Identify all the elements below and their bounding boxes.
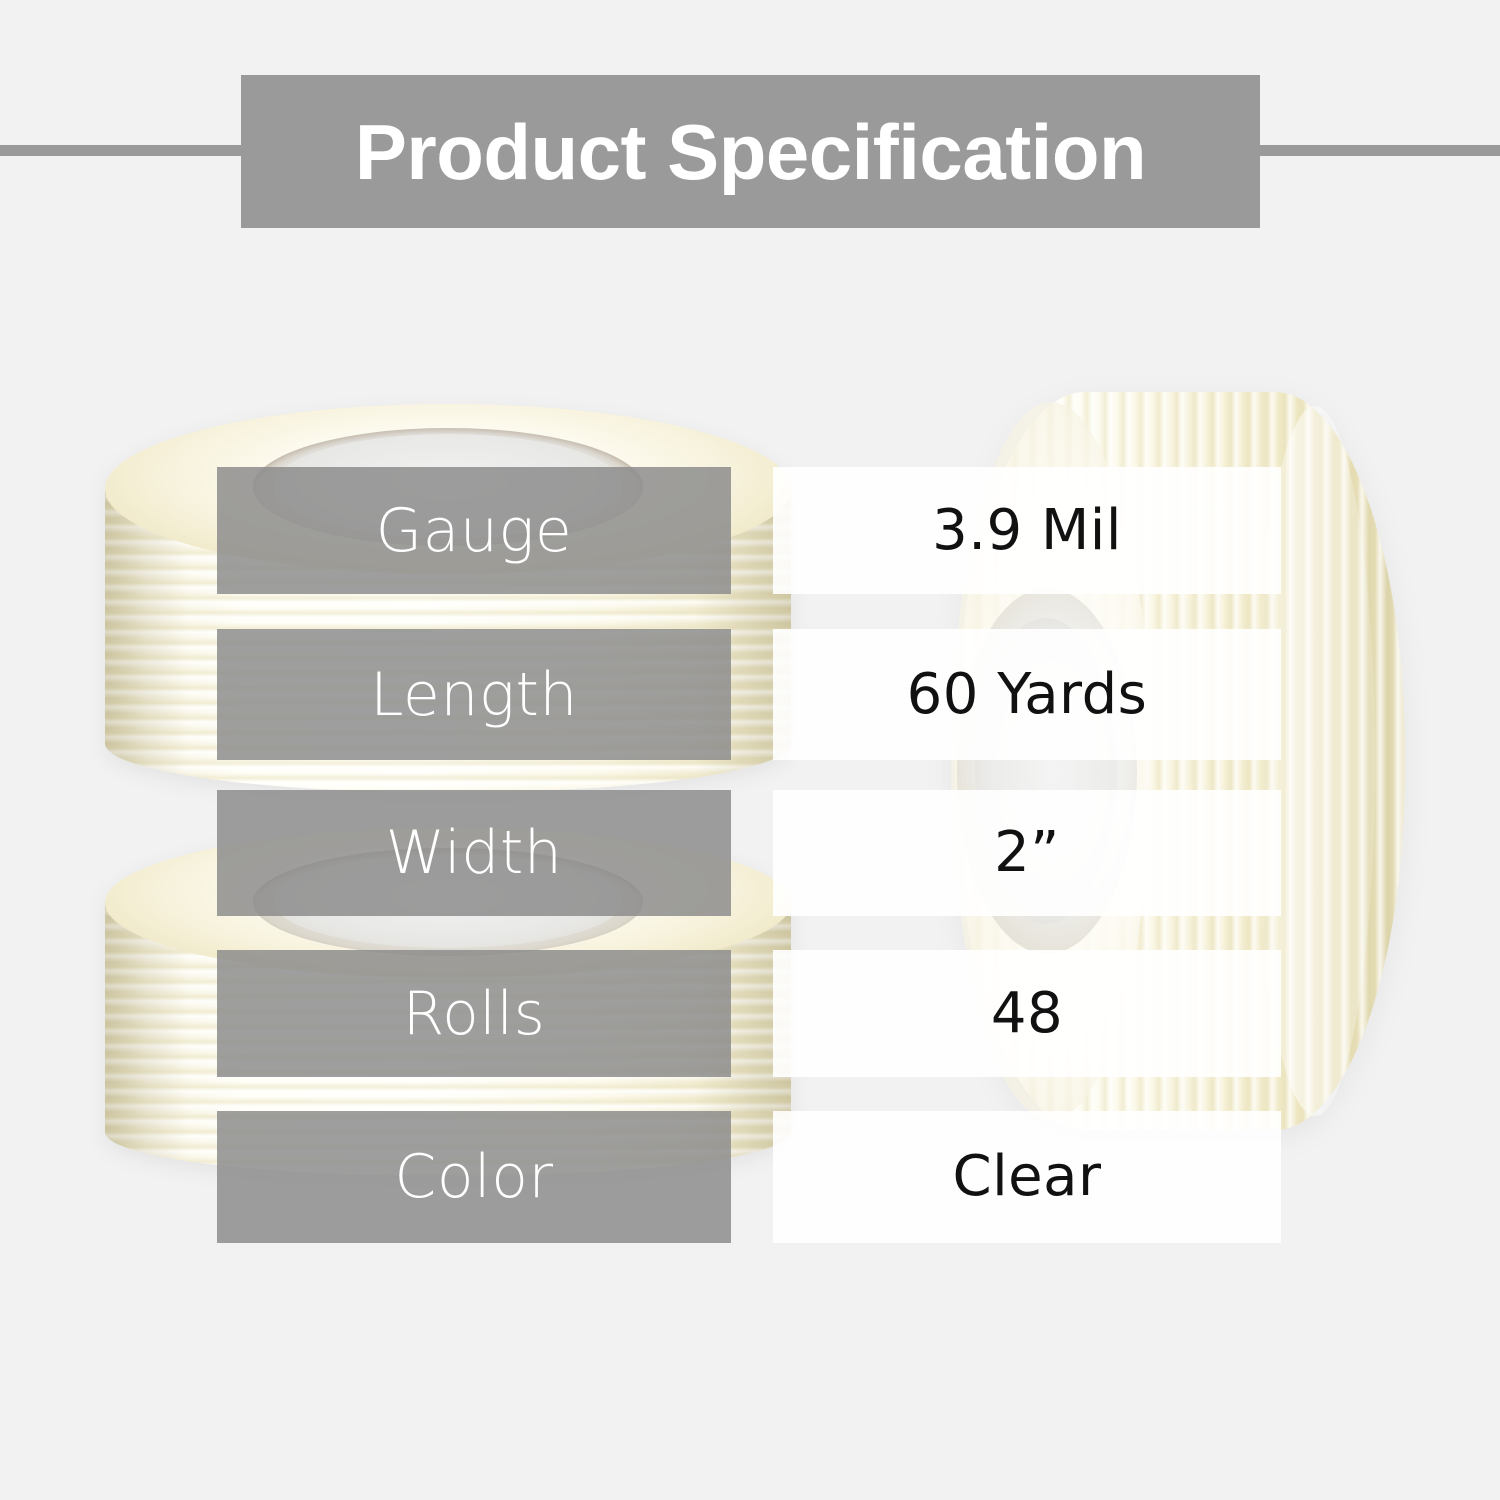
spec-table: Gauge 3.9 Mil Length 60 Yards Width 2” xyxy=(0,0,1500,1500)
spec-row: Color Clear xyxy=(0,1111,1500,1243)
spec-row: Rolls 48 xyxy=(0,950,1500,1077)
spec-value-cell: 2” xyxy=(773,790,1281,916)
spec-value-color: Clear xyxy=(953,1149,1102,1205)
product-specification-canvas: Product Specification Gauge 3.9 Mil Leng… xyxy=(0,0,1500,1500)
spec-label-length: Length xyxy=(370,665,578,725)
spec-value-cell: 60 Yards xyxy=(773,629,1281,760)
spec-label-cell: Rolls xyxy=(217,950,731,1077)
spec-value-cell: 3.9 Mil xyxy=(773,467,1281,594)
spec-label-cell: Length xyxy=(217,629,731,760)
spec-row: Length 60 Yards xyxy=(0,629,1500,760)
spec-label-width: Width xyxy=(386,823,563,883)
spec-label-cell: Width xyxy=(217,790,731,916)
spec-value-width: 2” xyxy=(994,825,1060,881)
spec-value-cell: Clear xyxy=(773,1111,1281,1243)
spec-row: Gauge 3.9 Mil xyxy=(0,467,1500,594)
spec-label-rolls: Rolls xyxy=(403,984,546,1044)
spec-label-gauge: Gauge xyxy=(376,501,573,561)
spec-label-cell: Gauge xyxy=(217,467,731,594)
spec-label-cell: Color xyxy=(217,1111,731,1243)
spec-value-rolls: 48 xyxy=(991,986,1063,1042)
spec-row: Width 2” xyxy=(0,790,1500,916)
spec-label-color: Color xyxy=(394,1147,553,1207)
spec-value-gauge: 3.9 Mil xyxy=(932,503,1122,559)
spec-value-length: 60 Yards xyxy=(907,667,1148,723)
spec-value-cell: 48 xyxy=(773,950,1281,1077)
